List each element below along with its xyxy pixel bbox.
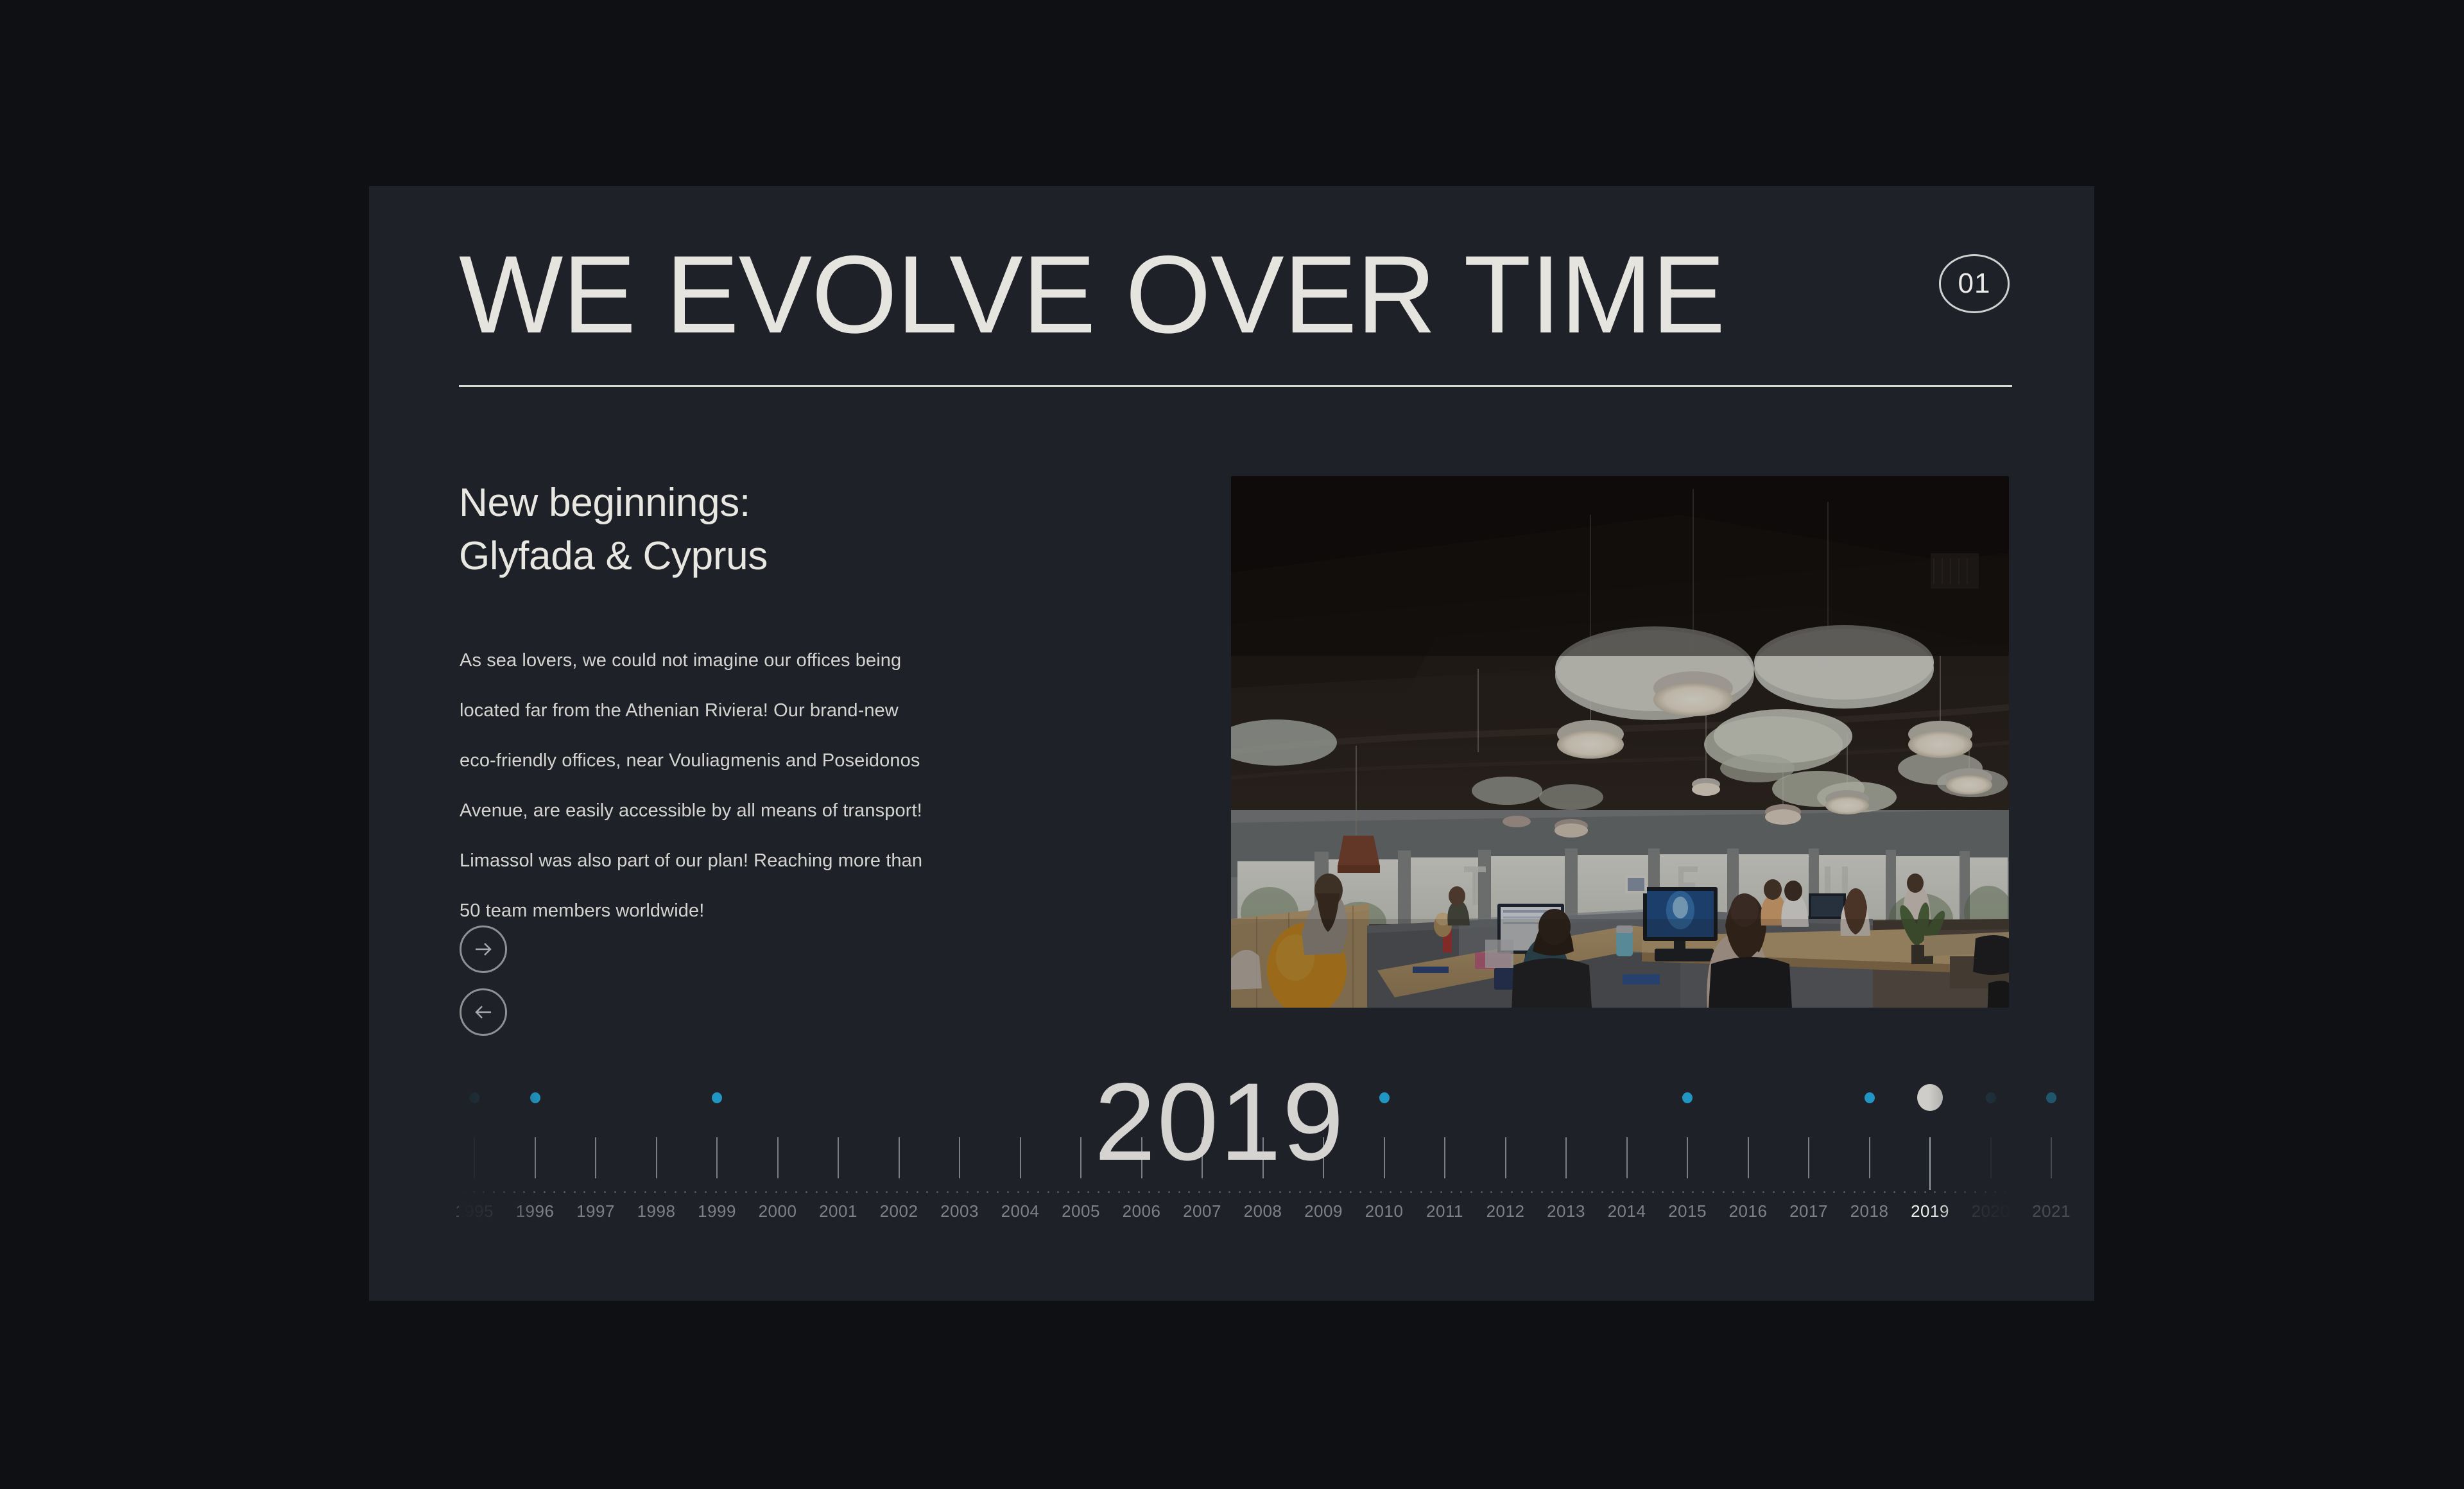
timeline-subtick bbox=[1329, 1191, 1331, 1193]
timeline-subtick bbox=[1350, 1191, 1352, 1193]
timeline-subtick bbox=[1420, 1191, 1422, 1193]
timeline-subtick bbox=[1370, 1191, 1372, 1193]
timeline-subtick bbox=[604, 1191, 606, 1193]
timeline-subtick bbox=[1228, 1191, 1230, 1193]
timeline-subtick bbox=[1743, 1191, 1745, 1193]
timeline-tick bbox=[899, 1137, 900, 1178]
timeline-tick bbox=[959, 1137, 960, 1178]
slide-navigation bbox=[460, 925, 507, 1051]
timeline-subtick bbox=[463, 1191, 465, 1193]
timeline-subtick bbox=[1551, 1191, 1553, 1193]
timeline-subtick bbox=[1007, 1191, 1009, 1193]
timeline-tick bbox=[838, 1137, 839, 1178]
timeline-subtick bbox=[1823, 1191, 1825, 1193]
timeline-subtick bbox=[967, 1191, 969, 1193]
timeline-subtick bbox=[1964, 1191, 1966, 1193]
timeline-tick bbox=[1626, 1137, 1628, 1178]
timeline-subtick bbox=[1249, 1191, 1251, 1193]
timeline-subtick bbox=[503, 1191, 505, 1193]
timeline-subtick bbox=[1067, 1191, 1069, 1193]
timeline-subtick bbox=[1279, 1191, 1281, 1193]
timeline-subtick bbox=[1289, 1191, 1291, 1193]
timeline-subtick bbox=[715, 1191, 717, 1193]
timeline-subtick bbox=[977, 1191, 979, 1193]
timeline-subtick bbox=[1601, 1191, 1603, 1193]
timeline-subtick bbox=[1460, 1191, 1462, 1193]
timeline-subtick bbox=[1188, 1191, 1190, 1193]
timeline-subtick bbox=[1863, 1191, 1865, 1193]
timeline-subtick bbox=[1793, 1191, 1795, 1193]
timeline-subtick bbox=[1702, 1191, 1704, 1193]
timeline-tick bbox=[1505, 1137, 1506, 1178]
timeline-subtick bbox=[1974, 1191, 1976, 1193]
timeline-subtick bbox=[1219, 1191, 1221, 1193]
timeline-tick bbox=[1384, 1137, 1385, 1178]
timeline-subtick bbox=[1410, 1191, 1412, 1193]
timeline-subtick bbox=[1904, 1191, 1906, 1193]
timeline-tick bbox=[716, 1137, 718, 1178]
timeline-marker[interactable] bbox=[1379, 1092, 1390, 1103]
timeline-subtick bbox=[876, 1191, 878, 1193]
timeline-tick bbox=[1080, 1137, 1081, 1178]
timeline-tick bbox=[1262, 1137, 1264, 1178]
timeline-marker[interactable] bbox=[530, 1092, 540, 1103]
timeline-subtick bbox=[564, 1191, 565, 1193]
timeline-subtick bbox=[775, 1191, 777, 1193]
timeline-subtick bbox=[1813, 1191, 1815, 1193]
timeline-subtick bbox=[1994, 1191, 1996, 1193]
timeline-subtick bbox=[1017, 1191, 1019, 1193]
timeline-subtick bbox=[1209, 1191, 1210, 1193]
timeline-subtick bbox=[825, 1191, 827, 1193]
timeline-subtick bbox=[654, 1191, 656, 1193]
timeline-subtick bbox=[1269, 1191, 1271, 1193]
timeline-subtick bbox=[936, 1191, 938, 1193]
timeline-subtick bbox=[473, 1191, 475, 1193]
timeline-subtick bbox=[2004, 1191, 2006, 1193]
timeline-subtick bbox=[483, 1191, 485, 1193]
timeline-tick bbox=[1929, 1137, 1931, 1190]
timeline-subtick bbox=[705, 1191, 707, 1193]
timeline-subtick bbox=[624, 1191, 626, 1193]
section-subtitle: New beginnings: Glyfada & Cyprus bbox=[459, 476, 1101, 583]
timeline-subtick bbox=[1672, 1191, 1674, 1193]
office-photo bbox=[1231, 476, 2009, 1008]
timeline-subtick bbox=[1178, 1191, 1180, 1193]
timeline-subtick bbox=[1833, 1191, 1835, 1193]
timeline-subtick bbox=[1138, 1191, 1140, 1193]
timeline-subtick bbox=[906, 1191, 908, 1193]
timeline-subtick bbox=[1481, 1191, 1483, 1193]
timeline-subtick bbox=[1712, 1191, 1714, 1193]
timeline-subtick bbox=[675, 1191, 676, 1193]
timeline-subtick bbox=[725, 1191, 727, 1193]
timeline-subtick bbox=[1390, 1191, 1391, 1193]
timeline-subtick bbox=[1642, 1191, 1644, 1193]
timeline-subtick bbox=[1239, 1191, 1241, 1193]
timeline-subtick bbox=[866, 1191, 868, 1193]
timeline-subtick bbox=[1591, 1191, 1593, 1193]
timeline-subtick bbox=[947, 1191, 949, 1193]
timeline-subtick bbox=[1944, 1191, 1946, 1193]
timeline-subtick bbox=[1773, 1191, 1775, 1193]
timeline-subtick bbox=[1884, 1191, 1886, 1193]
timeline-subtick bbox=[1198, 1191, 1200, 1193]
timeline-subtick bbox=[1622, 1191, 1624, 1193]
timeline-subtick bbox=[1581, 1191, 1583, 1193]
timeline-subtick bbox=[544, 1191, 546, 1193]
body-paragraph: As sea lovers, we could not imagine our … bbox=[460, 635, 928, 936]
timeline-subtick bbox=[684, 1191, 686, 1193]
timeline-tick bbox=[1323, 1137, 1324, 1178]
timeline-subtick bbox=[745, 1191, 747, 1193]
timeline[interactable]: 1995199619971998199920002001200220032004… bbox=[459, 1065, 2012, 1232]
timeline-marker[interactable] bbox=[469, 1092, 479, 1103]
timeline-subtick bbox=[1470, 1191, 1472, 1193]
timeline-subtick bbox=[1108, 1191, 1110, 1193]
timeline-subtick bbox=[997, 1191, 999, 1193]
timeline-subtick bbox=[644, 1191, 646, 1193]
office-photo-illustration bbox=[1231, 476, 2009, 1008]
timeline-tick bbox=[1020, 1137, 1021, 1178]
timeline-tick bbox=[474, 1137, 475, 1178]
timeline-subtick bbox=[1954, 1191, 1956, 1193]
subtitle-line-2: Glyfada & Cyprus bbox=[459, 529, 1101, 583]
timeline-subtick bbox=[1561, 1191, 1563, 1193]
timeline-subtick bbox=[1874, 1191, 1875, 1193]
timeline-tick bbox=[2051, 1137, 2052, 1178]
timeline-subtick bbox=[1490, 1191, 1492, 1193]
slide-panel: WE EVOLVE OVER TIME 01 New beginnings: G… bbox=[369, 186, 2094, 1301]
timeline-subtick bbox=[574, 1191, 576, 1193]
timeline-subtick bbox=[1078, 1191, 1080, 1193]
timeline-subtick bbox=[1400, 1191, 1402, 1193]
timeline-subtick bbox=[1501, 1191, 1503, 1193]
timeline-subtick bbox=[926, 1191, 928, 1193]
timeline-subtick bbox=[1803, 1191, 1805, 1193]
timeline-subtick bbox=[523, 1191, 525, 1193]
timeline-subtick bbox=[1682, 1191, 1684, 1193]
timeline-subtick bbox=[1854, 1191, 1856, 1193]
timeline-tick bbox=[595, 1137, 596, 1178]
next-slide-button[interactable] bbox=[460, 925, 507, 973]
timeline-subtick bbox=[1692, 1191, 1694, 1193]
timeline-subticks bbox=[459, 1191, 2012, 1195]
timeline-subtick bbox=[986, 1191, 988, 1193]
timeline-subtick bbox=[1158, 1191, 1160, 1193]
timeline-subtick bbox=[856, 1191, 857, 1193]
timeline-subtick bbox=[1924, 1191, 1926, 1193]
timeline-subtick bbox=[836, 1191, 838, 1193]
previous-slide-button[interactable] bbox=[460, 988, 507, 1036]
timeline-subtick bbox=[1843, 1191, 1845, 1193]
timeline-track[interactable]: 1995199619971998199920002001200220032004… bbox=[459, 1065, 2012, 1232]
timeline-subtick bbox=[1299, 1191, 1301, 1193]
timeline-subtick bbox=[1783, 1191, 1785, 1193]
timeline-subtick bbox=[634, 1191, 636, 1193]
timeline-subtick bbox=[1057, 1191, 1059, 1193]
timeline-subtick bbox=[1521, 1191, 1523, 1193]
timeline-subtick bbox=[1128, 1191, 1130, 1193]
timeline-tick bbox=[656, 1137, 657, 1178]
timeline-marker[interactable] bbox=[1865, 1092, 1875, 1103]
timeline-subtick bbox=[1914, 1191, 1916, 1193]
timeline-subtick bbox=[1732, 1191, 1734, 1193]
timeline-subtick bbox=[594, 1191, 596, 1193]
timeline-subtick bbox=[1380, 1191, 1382, 1193]
timeline-subtick bbox=[795, 1191, 797, 1193]
timeline-year-label: 2021 bbox=[2013, 1201, 2090, 1221]
timeline-subtick bbox=[1118, 1191, 1120, 1193]
timeline-subtick bbox=[765, 1191, 767, 1193]
timeline-tick bbox=[1869, 1137, 1870, 1178]
timeline-subtick bbox=[664, 1191, 666, 1193]
timeline-tick bbox=[1687, 1137, 1688, 1178]
timeline-tick bbox=[777, 1137, 779, 1178]
timeline-subtick bbox=[1762, 1191, 1764, 1193]
timeline-subtick bbox=[493, 1191, 495, 1193]
timeline-subtick bbox=[917, 1191, 918, 1193]
timeline-subtick bbox=[886, 1191, 888, 1193]
timeline-subtick bbox=[1309, 1191, 1311, 1193]
timeline-subtick bbox=[614, 1191, 616, 1193]
timeline-marker[interactable] bbox=[712, 1092, 722, 1103]
timeline-subtick bbox=[513, 1191, 515, 1193]
timeline-subtick bbox=[1168, 1191, 1170, 1193]
timeline-subtick bbox=[806, 1191, 807, 1193]
timeline-subtick bbox=[1430, 1191, 1432, 1193]
timeline-subtick bbox=[1632, 1191, 1633, 1193]
timeline-subtick bbox=[1531, 1191, 1533, 1193]
timeline-subtick bbox=[1451, 1191, 1452, 1193]
timeline-subtick bbox=[1985, 1191, 1986, 1193]
timeline-tick bbox=[535, 1137, 536, 1178]
timeline-subtick bbox=[694, 1191, 696, 1193]
timeline-subtick bbox=[1027, 1191, 1029, 1193]
timeline-subtick bbox=[1893, 1191, 1895, 1193]
slide-number-badge: 01 bbox=[1939, 254, 2010, 313]
timeline-tick bbox=[1141, 1137, 1142, 1178]
timeline-subtick bbox=[1148, 1191, 1150, 1193]
timeline-subtick bbox=[1934, 1191, 1936, 1193]
timeline-subtick bbox=[785, 1191, 787, 1193]
timeline-subtick bbox=[1723, 1191, 1725, 1193]
timeline-subtick bbox=[896, 1191, 898, 1193]
timeline-subtick bbox=[533, 1191, 535, 1193]
timeline-subtick bbox=[956, 1191, 958, 1193]
timeline-subtick bbox=[816, 1191, 818, 1193]
timeline-subtick bbox=[755, 1191, 757, 1193]
timeline-subtick bbox=[1359, 1191, 1361, 1193]
timeline-subtick bbox=[1087, 1191, 1089, 1193]
timeline-subtick bbox=[1511, 1191, 1513, 1193]
timeline-subtick bbox=[846, 1191, 848, 1193]
timeline-tick bbox=[1565, 1137, 1567, 1178]
timeline-subtick bbox=[1753, 1191, 1755, 1193]
timeline-subtick bbox=[1612, 1191, 1614, 1193]
timeline-subtick bbox=[1259, 1191, 1261, 1193]
timeline-subtick bbox=[1541, 1191, 1543, 1193]
page-title: WE EVOLVE OVER TIME bbox=[459, 237, 1725, 352]
timeline-subtick bbox=[1037, 1191, 1039, 1193]
timeline-subtick bbox=[735, 1191, 737, 1193]
subtitle-line-1: New beginnings: bbox=[459, 481, 750, 525]
timeline-subtick bbox=[1047, 1191, 1049, 1193]
timeline-tick bbox=[1808, 1137, 1809, 1178]
timeline-marker[interactable] bbox=[1986, 1092, 1996, 1103]
timeline-marker[interactable] bbox=[1682, 1092, 1693, 1103]
timeline-tick bbox=[1748, 1137, 1749, 1178]
timeline-subtick bbox=[1571, 1191, 1573, 1193]
timeline-subtick bbox=[1340, 1191, 1341, 1193]
timeline-tick bbox=[1444, 1137, 1445, 1178]
timeline-subtick bbox=[1440, 1191, 1442, 1193]
timeline-marker-active[interactable] bbox=[1917, 1084, 1943, 1111]
timeline-subtick bbox=[1320, 1191, 1322, 1193]
timeline-year-2021[interactable]: 2021 bbox=[2013, 1065, 2090, 1232]
timeline-subtick bbox=[1652, 1191, 1654, 1193]
timeline-tick bbox=[1202, 1137, 1203, 1178]
timeline-marker[interactable] bbox=[2046, 1092, 2056, 1103]
slide-header: WE EVOLVE OVER TIME 01 bbox=[459, 237, 2012, 385]
timeline-subtick bbox=[583, 1191, 585, 1193]
timeline-subtick bbox=[1662, 1191, 1664, 1193]
header-divider bbox=[459, 385, 2012, 387]
timeline-subtick bbox=[1098, 1191, 1099, 1193]
timeline-tick bbox=[1990, 1137, 1992, 1178]
timeline-subtick bbox=[553, 1191, 555, 1193]
